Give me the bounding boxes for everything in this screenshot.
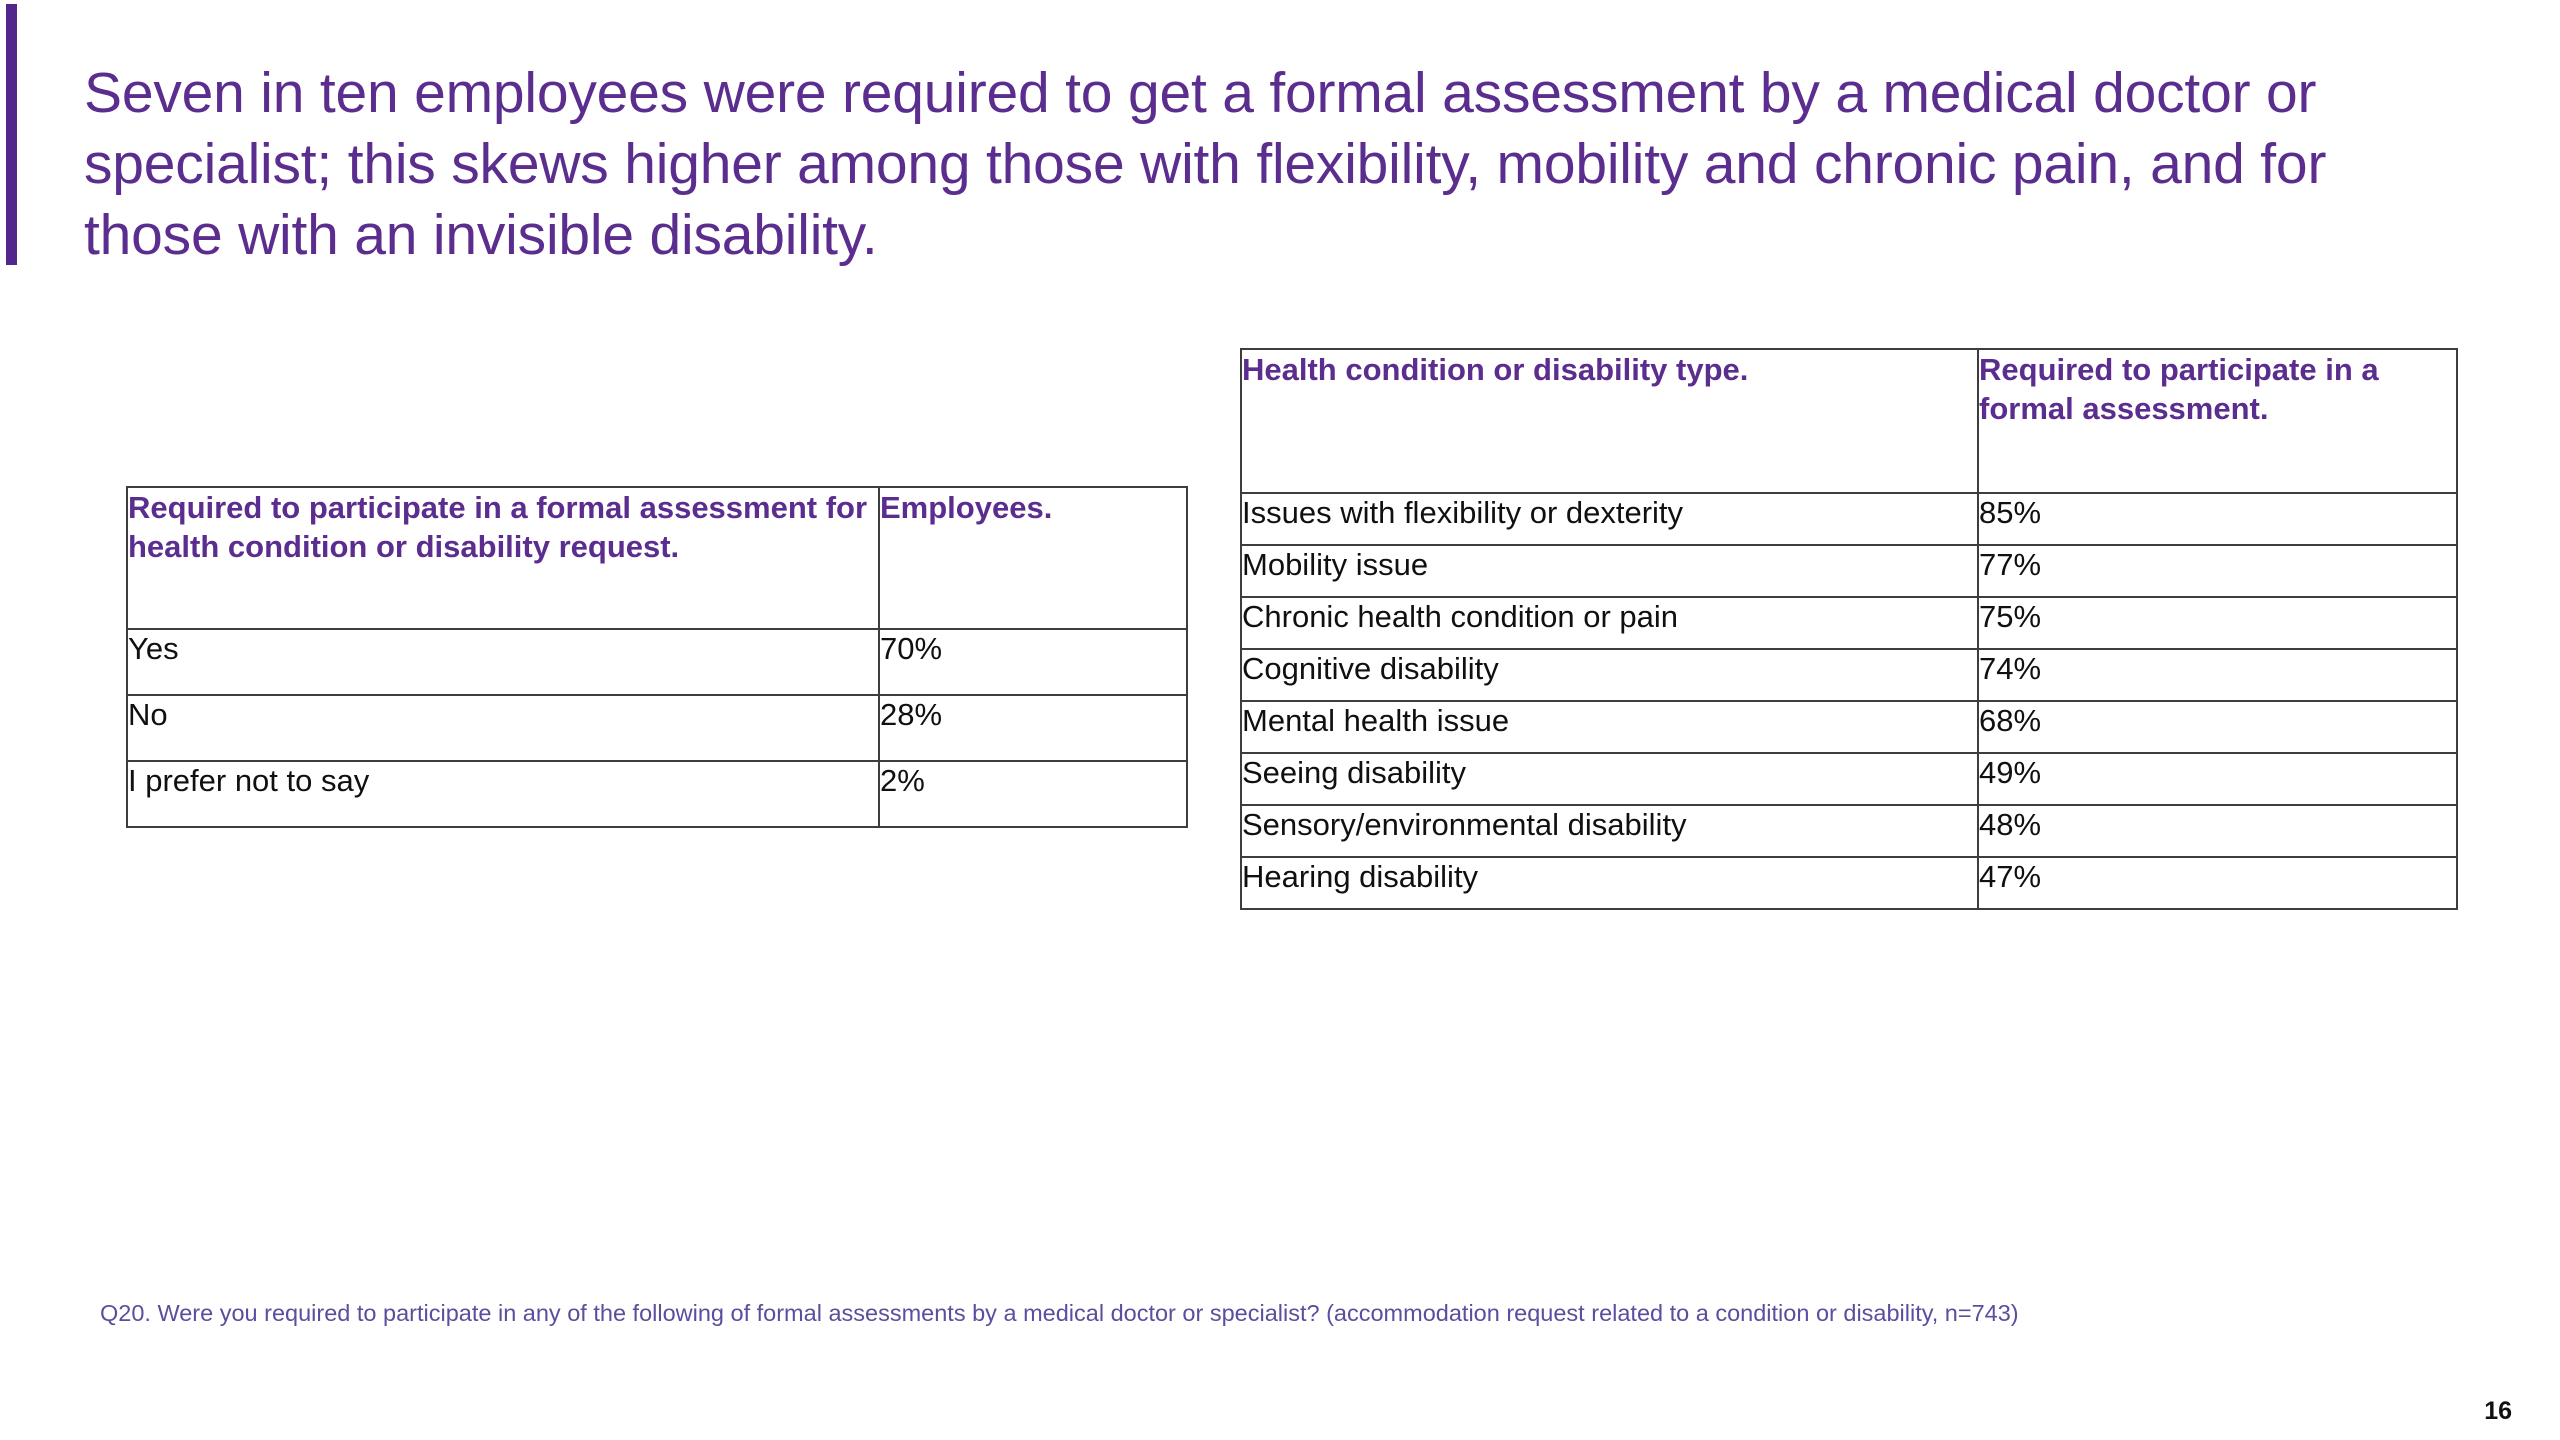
table-right-cell-label: Chronic health condition or pain <box>1241 597 1978 649</box>
table-row: Hearing disability47% <box>1241 857 2457 909</box>
table-right-header-required: Required to participate in a formal asse… <box>1978 349 2457 493</box>
page-title: Seven in ten employees were required to … <box>84 58 2414 271</box>
table-right-cell-value: 68% <box>1978 701 2457 753</box>
table-row: Mobility issue77% <box>1241 545 2457 597</box>
disability-type-assessment-table: Health condition or disability type. Req… <box>1240 348 2458 910</box>
table-right-body: Issues with flexibility or dexterity85%M… <box>1241 493 2457 909</box>
table-row: Sensory/environmental disability48% <box>1241 805 2457 857</box>
table-right-cell-label: Issues with flexibility or dexterity <box>1241 493 1978 545</box>
table-left-cell-label: I prefer not to say <box>127 761 879 827</box>
table-header-row: Health condition or disability type. Req… <box>1241 349 2457 493</box>
table-right-header-condition: Health condition or disability type. <box>1241 349 1978 493</box>
table-right-cell-label: Seeing disability <box>1241 753 1978 805</box>
table-right-cell-label: Cognitive disability <box>1241 649 1978 701</box>
table-right-cell-value: 75% <box>1978 597 2457 649</box>
table-left-body: Yes70%No28%I prefer not to say2% <box>127 629 1187 827</box>
table-right-cell-label: Hearing disability <box>1241 857 1978 909</box>
table-row: Mental health issue68% <box>1241 701 2457 753</box>
table-row: Chronic health condition or pain75% <box>1241 597 2457 649</box>
table-right-cell-value: 85% <box>1978 493 2457 545</box>
table-left-cell-value: 2% <box>879 761 1187 827</box>
table-left-header: Required to participate in a formal asse… <box>127 487 1187 629</box>
table-right-cell-value: 74% <box>1978 649 2457 701</box>
table-left-header-employees: Employees. <box>879 487 1187 629</box>
table-left-cell-label: Yes <box>127 629 879 695</box>
page-number: 16 <box>2484 1397 2512 1426</box>
table-right-cell-value: 47% <box>1978 857 2457 909</box>
table-row: No28% <box>127 695 1187 761</box>
table-left-cell-value: 70% <box>879 629 1187 695</box>
table-row: I prefer not to say2% <box>127 761 1187 827</box>
table-right-cell-label: Mobility issue <box>1241 545 1978 597</box>
table-left-cell-value: 28% <box>879 695 1187 761</box>
table-right-cell-label: Sensory/environmental disability <box>1241 805 1978 857</box>
table-left-header-question: Required to participate in a formal asse… <box>127 487 879 629</box>
table-row: Issues with flexibility or dexterity85% <box>1241 493 2457 545</box>
table-header-row: Required to participate in a formal asse… <box>127 487 1187 629</box>
table-left-cell-label: No <box>127 695 879 761</box>
table-right-header: Health condition or disability type. Req… <box>1241 349 2457 493</box>
table-row: Seeing disability49% <box>1241 753 2457 805</box>
table-right-cell-value: 48% <box>1978 805 2457 857</box>
source-footnote: Q20. Were you required to participate in… <box>100 1293 2460 1334</box>
assessment-requirement-table: Required to participate in a formal asse… <box>126 486 1188 828</box>
title-accent-bar <box>6 4 17 265</box>
table-right-cell-label: Mental health issue <box>1241 701 1978 753</box>
table-right-cell-value: 49% <box>1978 753 2457 805</box>
table-row: Cognitive disability74% <box>1241 649 2457 701</box>
table-row: Yes70% <box>127 629 1187 695</box>
table-right-cell-value: 77% <box>1978 545 2457 597</box>
